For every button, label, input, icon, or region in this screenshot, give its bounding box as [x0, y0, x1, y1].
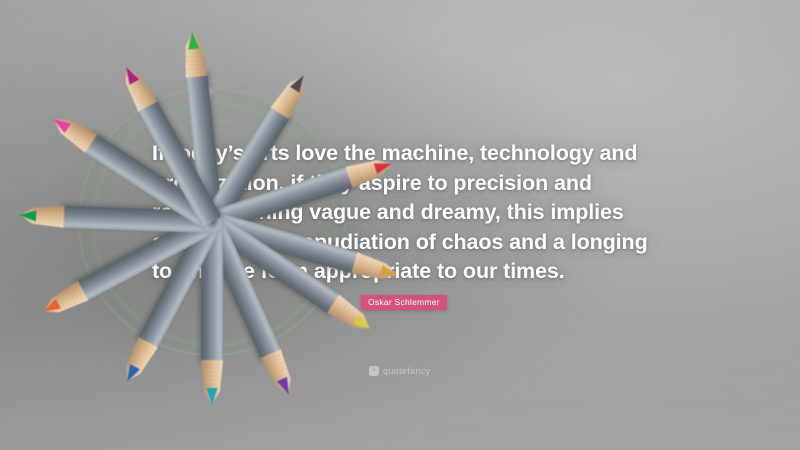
- quote-mark-icon: “: [369, 366, 379, 376]
- author-badge: Oskar Schlemmer: [361, 295, 447, 310]
- watermark: “ quotefancy: [369, 366, 431, 376]
- quote-line: If today’s arts love the machine, techno…: [152, 139, 662, 169]
- watermark-brand: quotefancy: [383, 366, 431, 376]
- quote-image-canvas: If today’s arts love the machine, techno…: [0, 0, 800, 450]
